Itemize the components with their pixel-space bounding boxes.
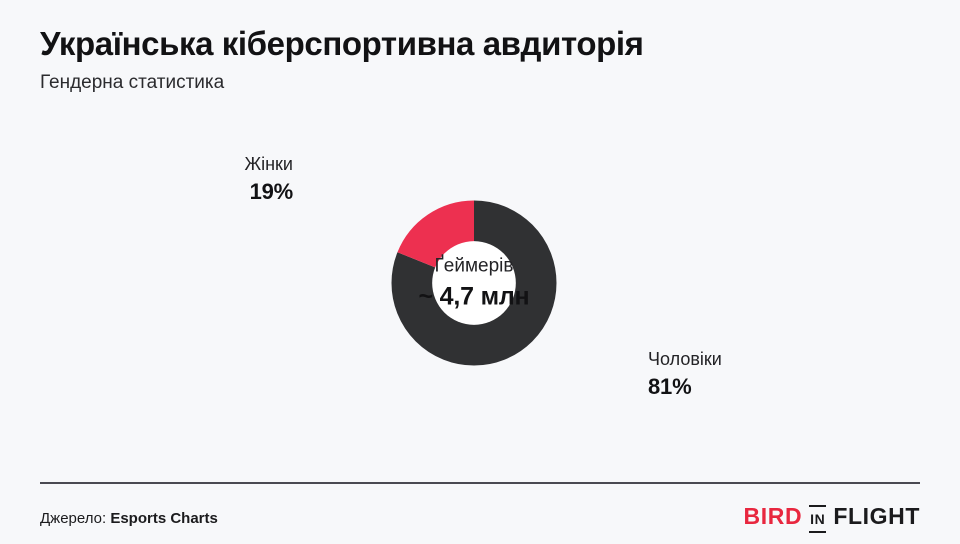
source-label: Джерело: [40,510,106,527]
footer: Джерело: Esports Charts BIRD IN FLIGHT [40,482,920,544]
page-title: Українська кіберспортивна авдиторія [40,24,920,64]
callout-women: Жінки 19% [133,152,293,206]
source-credit: Джерело: Esports Charts [40,509,218,529]
callout-women-label: Жінки [133,152,293,176]
donut-svg [328,137,620,429]
logo-word-bird: BIRD [744,504,803,528]
chart-area: Жінки 19% Чоловіки 81% Ґейм [0,110,960,460]
logo-word-flight: FLIGHT [833,504,920,528]
infographic-canvas: Українська кіберспортивна авдиторія Генд… [0,0,960,544]
logo-word-in: IN [809,505,826,533]
footer-divider [40,482,920,484]
source-name: Esports Charts [110,510,218,527]
page-subtitle: Гендерна статистика [40,70,920,96]
header: Українська кіберспортивна авдиторія Генд… [40,24,920,96]
bird-in-flight-logo: BIRD IN FLIGHT [744,504,920,533]
callout-men-label: Чоловіки [648,347,848,371]
callout-men-percent: 81% [648,373,848,401]
donut-hole [432,241,516,325]
callout-women-percent: 19% [133,178,293,206]
callout-men: Чоловіки 81% [648,347,848,401]
donut-chart: Ґеймерів ~ 4,7 млн [328,137,620,429]
